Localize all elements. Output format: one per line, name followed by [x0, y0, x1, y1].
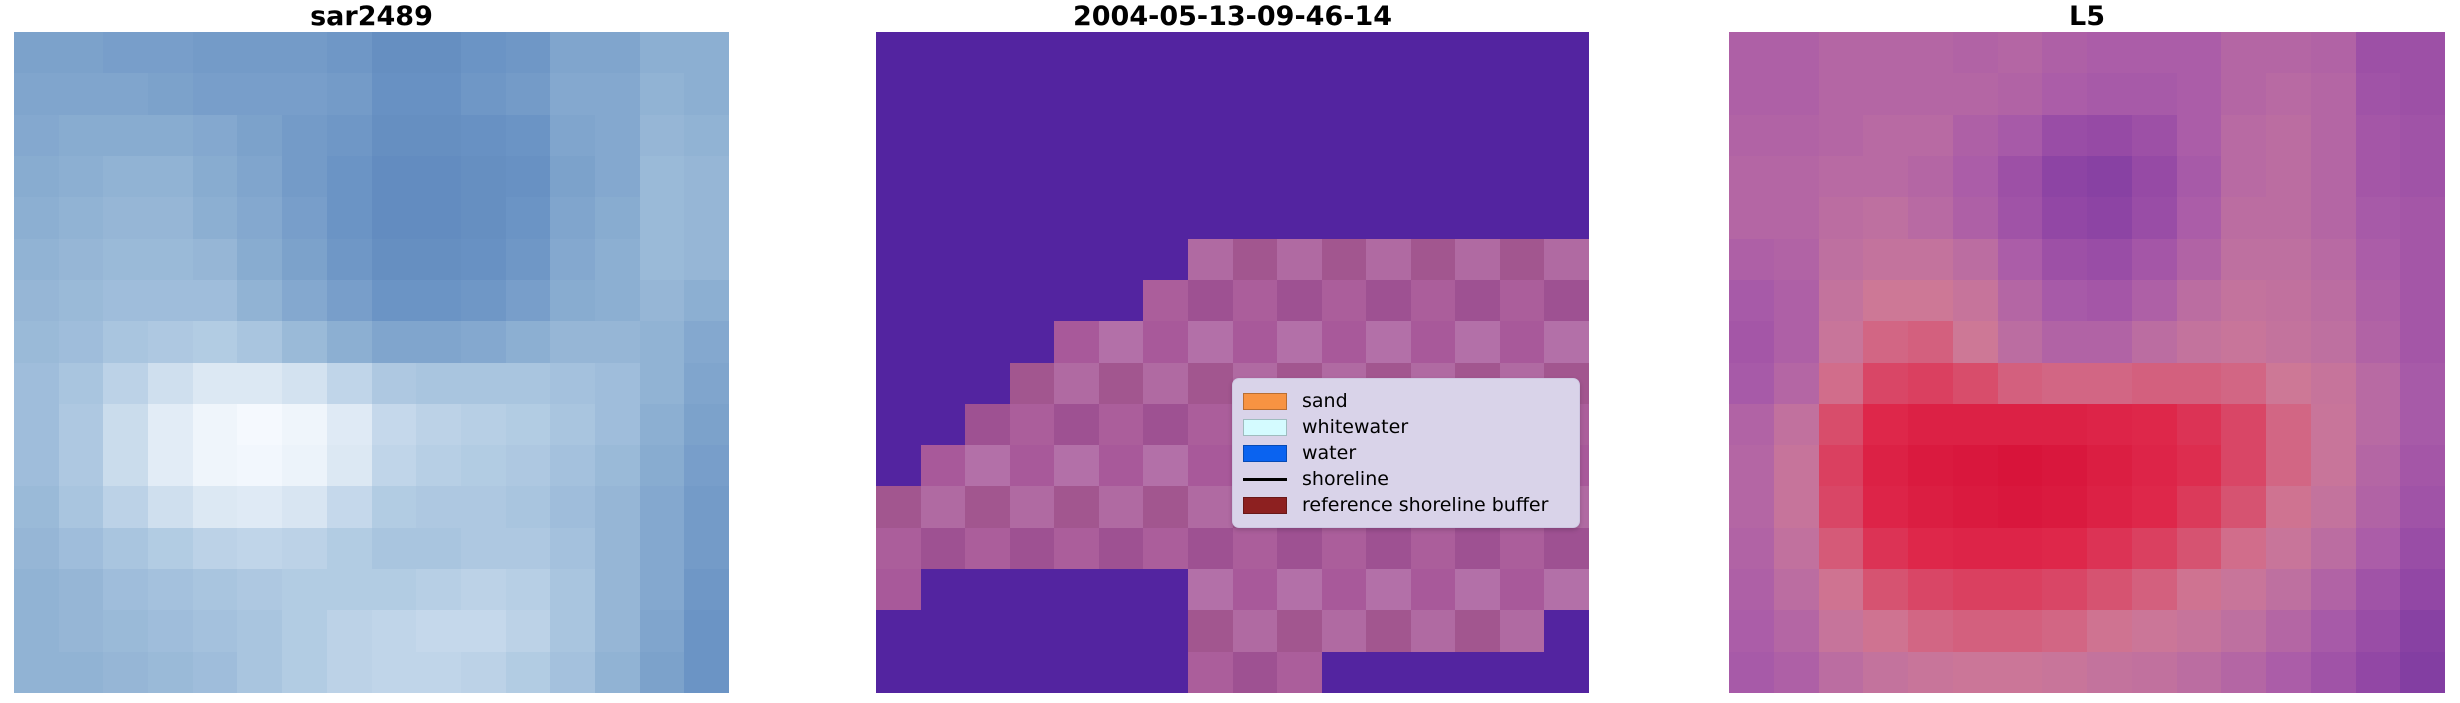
heatmap-cell [327, 156, 372, 197]
heatmap-cell [2266, 363, 2311, 404]
heatmap-cell [1143, 445, 1188, 486]
heatmap-cell [2221, 239, 2266, 280]
heatmap-cell [14, 652, 59, 693]
heatmap-cell [1099, 445, 1144, 486]
legend-item-sand[interactable]: sand [1243, 388, 1569, 414]
heatmap-cell [1500, 32, 1545, 73]
heatmap-cell [14, 73, 59, 114]
heatmap-cell [59, 73, 104, 114]
heatmap-cell [2311, 197, 2356, 238]
heatmap-cell [1143, 197, 1188, 238]
heatmap-cell [1322, 528, 1367, 569]
heatmap-cell [2356, 363, 2401, 404]
heatmap-cell [103, 280, 148, 321]
heatmap-cell [1544, 156, 1589, 197]
heatmap-cell [1277, 280, 1322, 321]
heatmap-cell [550, 321, 595, 362]
heatmap-cell [921, 486, 966, 527]
heatmap-cell [1099, 156, 1144, 197]
heatmap-cell [876, 569, 921, 610]
heatmap-cell [595, 280, 640, 321]
heatmap-cell [1544, 610, 1589, 651]
heatmap-cell [1819, 280, 1864, 321]
heatmap-cell [1774, 156, 1819, 197]
heatmap-cell [684, 445, 729, 486]
heatmap-cell [2087, 321, 2132, 362]
heatmap-cell [1455, 197, 1500, 238]
heatmap-cell [1277, 569, 1322, 610]
heatmap-cell [1998, 32, 2043, 73]
heatmap-cell [965, 652, 1010, 693]
heatmap-cell [372, 73, 417, 114]
heatmap-cell [1998, 115, 2043, 156]
heatmap-cell [2266, 115, 2311, 156]
heatmap-cell [1774, 239, 1819, 280]
heatmap-cell [2311, 445, 2356, 486]
heatmap-cell [193, 569, 238, 610]
heatmap-cell [14, 197, 59, 238]
heatmap-cell [1099, 197, 1144, 238]
heatmap-cell [595, 115, 640, 156]
heatmap-cell [1010, 404, 1055, 445]
heatmap-cell [965, 363, 1010, 404]
heatmap-cell [506, 363, 551, 404]
heatmap-cell [1233, 156, 1278, 197]
heatmap-cell [1322, 321, 1367, 362]
heatmap-cell [2311, 528, 2356, 569]
heatmap-cell [506, 528, 551, 569]
heatmap-cell [595, 528, 640, 569]
heatmap-cell [1998, 610, 2043, 651]
heatmap-cell [148, 156, 193, 197]
heatmap-cell [640, 569, 685, 610]
heatmap-cell [59, 363, 104, 404]
heatmap-cell [965, 486, 1010, 527]
heatmap-cell [1455, 239, 1500, 280]
heatmap-cell [237, 280, 282, 321]
heatmap-cell [2087, 569, 2132, 610]
heatmap-cell [965, 528, 1010, 569]
heatmap-cell [1908, 652, 1953, 693]
heatmap-cell [2221, 652, 2266, 693]
heatmap-cell [2356, 610, 2401, 651]
heatmap-cell [1544, 115, 1589, 156]
heatmap-cell [1819, 569, 1864, 610]
legend-box[interactable]: sand whitewater water shoreline referenc… [1232, 378, 1580, 528]
heatmap-cell [193, 321, 238, 362]
heatmap-cell [684, 363, 729, 404]
heatmap-cell [1998, 321, 2043, 362]
legend-item-whitewater[interactable]: whitewater [1243, 414, 1569, 440]
heatmap-cell [1411, 73, 1456, 114]
heatmap-cell [1819, 363, 1864, 404]
heatmap-cell [1863, 363, 1908, 404]
heatmap-cell [921, 321, 966, 362]
heatmap-cell [2042, 156, 2087, 197]
heatmap-cell [237, 197, 282, 238]
heatmap-cell [1054, 73, 1099, 114]
heatmap-cell [1908, 321, 1953, 362]
heatmap-cell [876, 363, 921, 404]
heatmap-cell [684, 528, 729, 569]
heatmap-cell [684, 197, 729, 238]
heatmap-cell [1143, 363, 1188, 404]
heatmap-cell [1544, 321, 1589, 362]
heatmap-cell [1729, 610, 1774, 651]
heatmap-cell [282, 73, 327, 114]
heatmap-cell [1322, 652, 1367, 693]
heatmap-cell [1863, 404, 1908, 445]
heatmap-cell [1010, 321, 1055, 362]
heatmap-cell [14, 32, 59, 73]
heatmap-cell [1998, 652, 2043, 693]
heatmap-cell [1010, 528, 1055, 569]
heatmap-cell [1010, 197, 1055, 238]
heatmap-cell [1729, 239, 1774, 280]
heatmap-cell [372, 445, 417, 486]
heatmap-cell [1953, 569, 1998, 610]
heatmap-cell [1544, 197, 1589, 238]
heatmap-classification[interactable] [876, 32, 1589, 693]
heatmap-cell [1143, 528, 1188, 569]
heatmap-cell [921, 156, 966, 197]
heatmap-cell [1729, 486, 1774, 527]
heatmap-cell [1863, 610, 1908, 651]
heatmap-cell [1729, 197, 1774, 238]
heatmap-cell [1322, 239, 1367, 280]
heatmap-cell [103, 321, 148, 362]
legend-item-reference-shoreline-buffer[interactable]: reference shoreline buffer [1243, 492, 1569, 518]
heatmap-cell [2132, 486, 2177, 527]
heatmap-cell [1544, 280, 1589, 321]
heatmap-cell [14, 321, 59, 362]
heatmap-cell [2087, 156, 2132, 197]
heatmap-cell [237, 156, 282, 197]
heatmap-cell [921, 239, 966, 280]
heatmap-cell [14, 445, 59, 486]
heatmap-cell [2132, 73, 2177, 114]
heatmap-cell [1953, 32, 1998, 73]
heatmap-cell [2266, 569, 2311, 610]
heatmap-cell [1322, 610, 1367, 651]
heatmap-cell [2087, 528, 2132, 569]
heatmap-cell [2221, 321, 2266, 362]
heatmap-cell [461, 363, 506, 404]
heatmap-cell [237, 115, 282, 156]
heatmap-cell [550, 280, 595, 321]
heatmap-cell [684, 115, 729, 156]
heatmap-cell [876, 404, 921, 445]
heatmap-cell [416, 486, 461, 527]
heatmap-cell [1774, 73, 1819, 114]
heatmap-cell [595, 32, 640, 73]
heatmap-cell [2400, 445, 2445, 486]
axes-sar[interactable] [14, 32, 729, 693]
heatmap-cell [2132, 610, 2177, 651]
heatmap-cell [461, 445, 506, 486]
heatmap-cell [59, 156, 104, 197]
heatmap-cell [506, 569, 551, 610]
heatmap-cell [1366, 32, 1411, 73]
heatmap-cell [1908, 73, 1953, 114]
heatmap-cell [1863, 197, 1908, 238]
heatmap-cell [1908, 486, 1953, 527]
heatmap-cell [1863, 569, 1908, 610]
heatmap-cell [1322, 73, 1367, 114]
heatmap-cell [1729, 115, 1774, 156]
heatmap-cell [148, 280, 193, 321]
heatmap-cell [14, 528, 59, 569]
heatmap-cell [1054, 321, 1099, 362]
heatmap-cell [1908, 404, 1953, 445]
heatmap-cell [2087, 115, 2132, 156]
heatmap-cell [2177, 156, 2222, 197]
heatmap-cell [2266, 445, 2311, 486]
heatmap-cell [327, 569, 372, 610]
heatmap-cell [2042, 404, 2087, 445]
heatmap-cell [1774, 528, 1819, 569]
heatmap-cell [1998, 404, 2043, 445]
heatmap-cell [1455, 321, 1500, 362]
heatmap-cell [684, 404, 729, 445]
heatmap-cell [282, 404, 327, 445]
heatmap-cell [1544, 32, 1589, 73]
heatmap-cell [1366, 280, 1411, 321]
heatmap-cell [1729, 156, 1774, 197]
heatmap-cell [1099, 239, 1144, 280]
heatmap-cell [2132, 239, 2177, 280]
heatmap-cell [1277, 652, 1322, 693]
heatmap-cell [461, 486, 506, 527]
heatmap-cell [2042, 32, 2087, 73]
heatmap-cell [506, 486, 551, 527]
heatmap-cell [282, 32, 327, 73]
heatmap-cell [1863, 32, 1908, 73]
heatmap-cell [876, 115, 921, 156]
heatmap-cell [193, 280, 238, 321]
heatmap-cell [148, 321, 193, 362]
heatmap-cell [327, 486, 372, 527]
heatmap-cell [1908, 239, 1953, 280]
heatmap-cell [282, 610, 327, 651]
heatmap-cell [1143, 115, 1188, 156]
heatmap-cell [237, 404, 282, 445]
heatmap-cell [1774, 652, 1819, 693]
heatmap-cell [506, 197, 551, 238]
heatmap-cell [965, 32, 1010, 73]
heatmap-cell [876, 486, 921, 527]
heatmap-cell [1953, 280, 1998, 321]
heatmap-cell [550, 239, 595, 280]
heatmap-cell [1774, 321, 1819, 362]
heatmap-cell [550, 445, 595, 486]
heatmap-cell [2356, 321, 2401, 362]
heatmap-cell [640, 445, 685, 486]
heatmap-cell [1233, 239, 1278, 280]
heatmap-cell [282, 445, 327, 486]
heatmap-cell [2177, 239, 2222, 280]
heatmap-cell [1366, 528, 1411, 569]
heatmap-cell [461, 156, 506, 197]
heatmap-cell [1544, 528, 1589, 569]
heatmap-cell [59, 569, 104, 610]
heatmap-cell [1010, 486, 1055, 527]
heatmap-cell [1819, 486, 1864, 527]
heatmap-cell [1277, 115, 1322, 156]
heatmap-cell [1729, 528, 1774, 569]
heatmap-cell [921, 197, 966, 238]
heatmap-cell [2177, 280, 2222, 321]
heatmap-cell [148, 652, 193, 693]
heatmap-cell [1054, 404, 1099, 445]
legend-label-whitewater: whitewater [1302, 418, 1408, 437]
heatmap-cell [1863, 156, 1908, 197]
legend-label-shoreline: shoreline [1302, 470, 1389, 489]
heatmap-cell [1863, 115, 1908, 156]
heatmap-cell [2400, 569, 2445, 610]
heatmap-cell [921, 115, 966, 156]
heatmap-cell [921, 610, 966, 651]
heatmap-cell [2266, 321, 2311, 362]
heatmap-cell [416, 239, 461, 280]
heatmap-cell [1010, 610, 1055, 651]
heatmap-cell [1054, 239, 1099, 280]
heatmap-cell [550, 197, 595, 238]
heatmap-cell [2400, 32, 2445, 73]
heatmap-cell [1411, 239, 1456, 280]
heatmap-cell [1729, 404, 1774, 445]
heatmap-cell [1099, 528, 1144, 569]
heatmap-cell [965, 280, 1010, 321]
heatmap-cell [148, 73, 193, 114]
heatmap-cell [2132, 197, 2177, 238]
heatmap-cell [640, 156, 685, 197]
heatmap-cell [237, 73, 282, 114]
heatmap-cell [2042, 73, 2087, 114]
heatmap-cell [193, 528, 238, 569]
heatmap-cell [506, 32, 551, 73]
heatmap-cell [1099, 404, 1144, 445]
heatmap-cell [1953, 239, 1998, 280]
heatmap-cell [372, 280, 417, 321]
heatmap-cell [684, 156, 729, 197]
heatmap-cell [2266, 486, 2311, 527]
heatmap-cell [103, 73, 148, 114]
heatmap-cell [327, 363, 372, 404]
heatmap-cell [595, 652, 640, 693]
heatmap-cell [372, 610, 417, 651]
heatmap-cell [2356, 445, 2401, 486]
heatmap-cell [2177, 528, 2222, 569]
heatmap-cell [416, 197, 461, 238]
heatmap-cell [2356, 280, 2401, 321]
heatmap-cell [965, 73, 1010, 114]
heatmap-cell [2132, 528, 2177, 569]
heatmap-cell [2221, 197, 2266, 238]
heatmap-cell [1277, 321, 1322, 362]
heatmap-cell [2266, 73, 2311, 114]
heatmap-cell [416, 115, 461, 156]
heatmap-cell [372, 569, 417, 610]
heatmap-cell [921, 32, 966, 73]
heatmap-cell [1998, 239, 2043, 280]
heatmap-cell [193, 115, 238, 156]
heatmap-cell [1998, 280, 2043, 321]
heatmap-cell [2042, 239, 2087, 280]
heatmap-cell [416, 610, 461, 651]
heatmap-cell [640, 73, 685, 114]
heatmap-cell [193, 404, 238, 445]
heatmap-cell [282, 280, 327, 321]
heatmap-cell [1054, 569, 1099, 610]
heatmap-cell [1455, 652, 1500, 693]
heatmap-cell [2221, 404, 2266, 445]
heatmap-cell [550, 115, 595, 156]
heatmap-cell [103, 528, 148, 569]
heatmap-cell [1500, 528, 1545, 569]
heatmap-sar[interactable] [14, 32, 729, 693]
heatmap-cell [103, 404, 148, 445]
heatmap-cell [327, 73, 372, 114]
heatmap-cell [2311, 280, 2356, 321]
heatmap-cell [14, 363, 59, 404]
heatmap-cell [2177, 115, 2222, 156]
heatmap-cell [2221, 32, 2266, 73]
heatmap-cell [282, 115, 327, 156]
heatmap-cell [1010, 239, 1055, 280]
heatmap-cell [965, 156, 1010, 197]
heatmap-cell [1500, 156, 1545, 197]
heatmap-cell [1908, 280, 1953, 321]
axes-l5[interactable] [1729, 32, 2445, 693]
heatmap-cell [595, 321, 640, 362]
heatmap-cell [148, 32, 193, 73]
heatmap-cell [1054, 32, 1099, 73]
legend-item-water[interactable]: water [1243, 440, 1569, 466]
heatmap-cell [1277, 528, 1322, 569]
heatmap-cell [876, 610, 921, 651]
heatmap-cell [59, 239, 104, 280]
heatmap-l5[interactable] [1729, 32, 2445, 693]
heatmap-cell [595, 239, 640, 280]
axes-classification[interactable]: sand whitewater water shoreline referenc… [876, 32, 1589, 693]
heatmap-cell [1500, 280, 1545, 321]
heatmap-cell [1500, 569, 1545, 610]
heatmap-cell [1774, 610, 1819, 651]
heatmap-cell [595, 73, 640, 114]
heatmap-cell [2356, 652, 2401, 693]
heatmap-cell [1774, 363, 1819, 404]
heatmap-cell [876, 280, 921, 321]
heatmap-cell [1953, 73, 1998, 114]
legend-item-shoreline[interactable]: shoreline [1243, 466, 1569, 492]
heatmap-cell [416, 404, 461, 445]
heatmap-cell [1099, 569, 1144, 610]
heatmap-cell [1500, 652, 1545, 693]
heatmap-cell [1143, 404, 1188, 445]
heatmap-cell [193, 156, 238, 197]
heatmap-cell [1054, 115, 1099, 156]
heatmap-cell [2177, 197, 2222, 238]
heatmap-cell [2042, 197, 2087, 238]
heatmap-cell [1143, 280, 1188, 321]
heatmap-cell [2311, 363, 2356, 404]
heatmap-cell [1010, 73, 1055, 114]
heatmap-cell [193, 610, 238, 651]
heatmap-cell [372, 32, 417, 73]
heatmap-cell [461, 404, 506, 445]
heatmap-cell [684, 610, 729, 651]
